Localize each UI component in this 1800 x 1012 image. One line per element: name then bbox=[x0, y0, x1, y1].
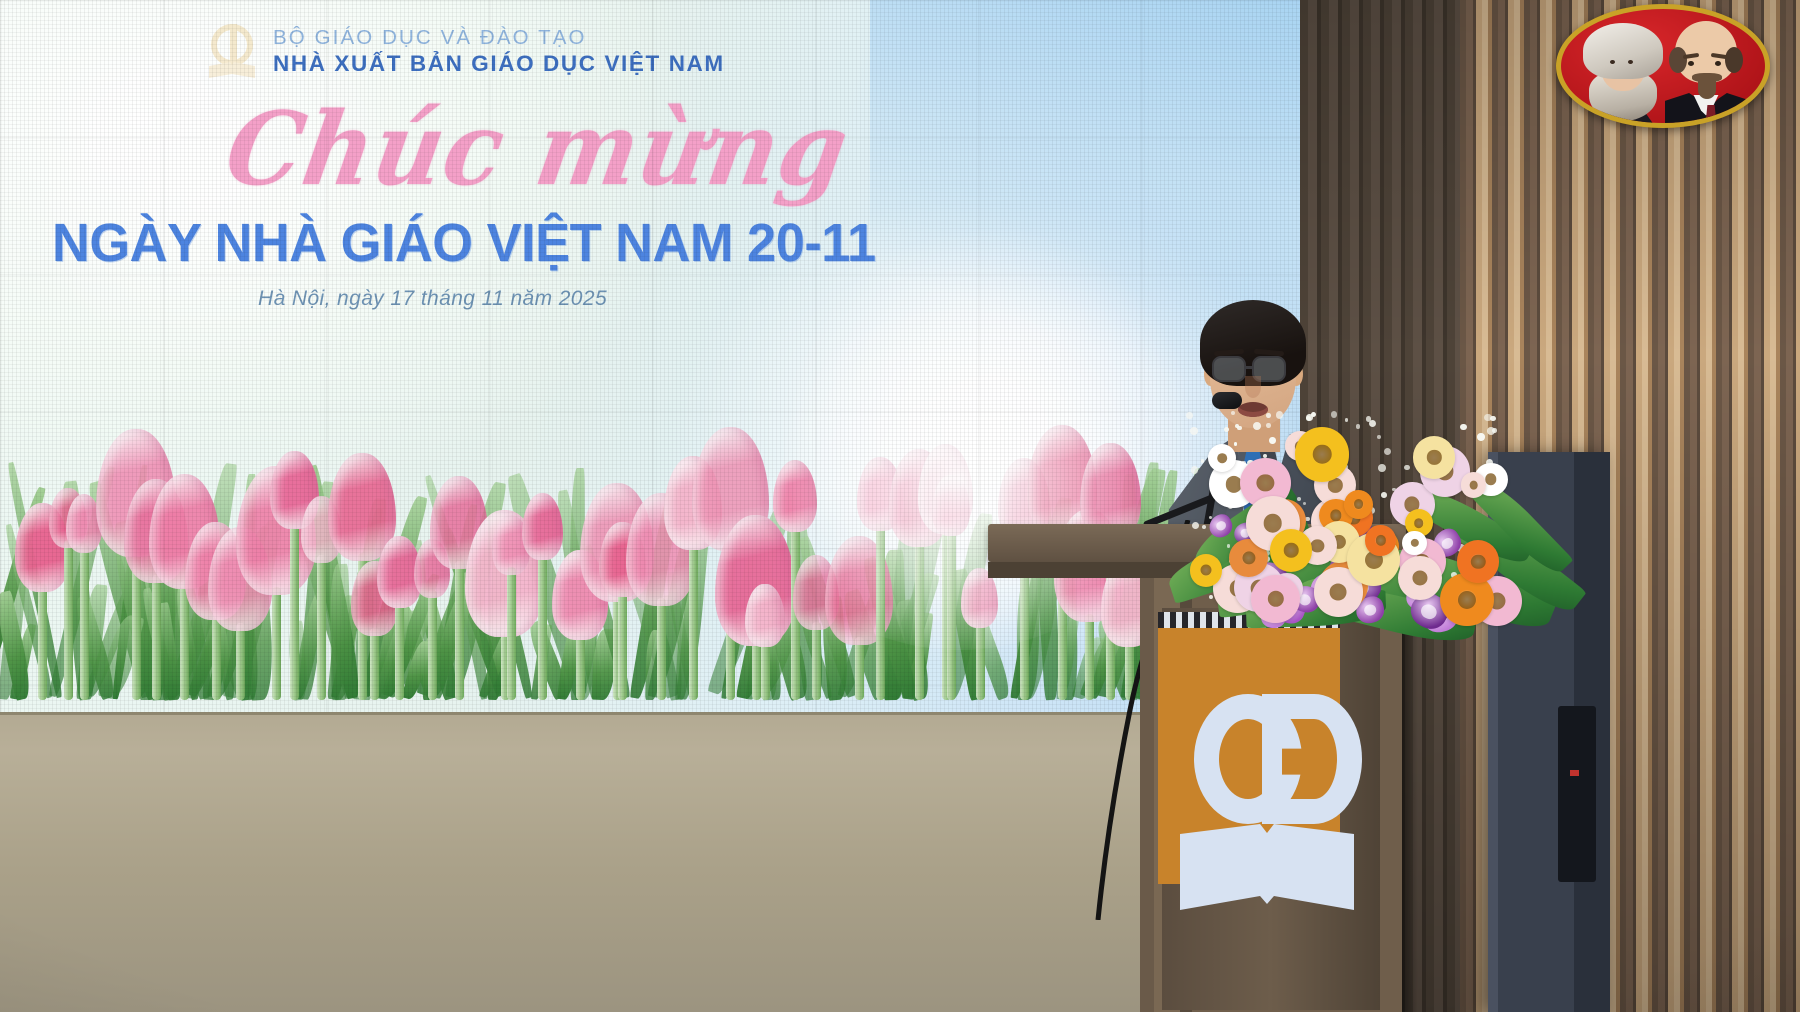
bouquet-flower bbox=[1413, 436, 1455, 478]
tulip-stem bbox=[657, 598, 666, 700]
tulip-stem bbox=[64, 540, 73, 700]
tulip-stem bbox=[428, 590, 437, 700]
bouquet-gypsophila bbox=[1305, 517, 1309, 521]
bouquet-flower bbox=[1365, 525, 1395, 555]
lenin-portrait-icon bbox=[1665, 21, 1751, 123]
bouquet-gypsophila bbox=[1224, 427, 1229, 432]
eyeglasses-lens-left bbox=[1212, 356, 1246, 382]
bouquet-gypsophila bbox=[1234, 442, 1237, 445]
bouquet-flower bbox=[1208, 444, 1236, 472]
bouquet-gypsophila bbox=[1356, 424, 1360, 428]
bouquet-gypsophila bbox=[1191, 466, 1198, 473]
tulip-stem bbox=[152, 575, 161, 700]
bouquet-gypsophila bbox=[1266, 413, 1271, 418]
speaker-power-led-icon bbox=[1570, 770, 1579, 776]
bouquet-flower bbox=[1251, 575, 1299, 623]
bouquet-flower bbox=[1295, 427, 1350, 482]
bouquet-gypsophila bbox=[1303, 502, 1306, 505]
podium-side-shadow bbox=[1402, 578, 1418, 1012]
bouquet-gypsophila bbox=[1202, 525, 1206, 529]
tulip-stem bbox=[212, 612, 221, 700]
bouquet-gypsophila bbox=[1369, 420, 1376, 427]
bouquet-flower bbox=[1457, 540, 1500, 583]
bouquet-gypsophila bbox=[1345, 418, 1348, 421]
marx-portrait-icon bbox=[1581, 23, 1665, 123]
tulip-stem bbox=[538, 552, 547, 700]
bouquet-gypsophila bbox=[1231, 411, 1235, 415]
bouquet-gypsophila bbox=[1209, 595, 1213, 599]
bouquet-gypsophila bbox=[1253, 422, 1261, 430]
date-line: Hà Nội, ngày 17 tháng 11 năm 2025 bbox=[258, 287, 607, 311]
tulip-stem bbox=[689, 542, 698, 700]
tulip-stem bbox=[80, 545, 89, 700]
bouquet-gypsophila bbox=[1269, 437, 1275, 443]
bouquet-gypsophila bbox=[1331, 411, 1337, 417]
bouquet-gypsophila bbox=[1190, 427, 1198, 435]
tulip-stem bbox=[855, 637, 864, 700]
bouquet-flower bbox=[1402, 531, 1427, 556]
gd-logo-book-icon bbox=[1180, 824, 1354, 910]
eyeglasses-bridge bbox=[1246, 366, 1254, 369]
bouquet-flower bbox=[1270, 529, 1313, 572]
tulip-stem bbox=[752, 638, 761, 700]
bouquet-gypsophila bbox=[1201, 459, 1205, 463]
tulip-bloom bbox=[522, 493, 563, 560]
tulip-stem bbox=[38, 584, 47, 700]
tulip-stem bbox=[370, 628, 379, 700]
bouquet-gypsophila bbox=[1276, 411, 1283, 418]
tulip-stem bbox=[812, 622, 821, 700]
tulip-stem bbox=[576, 632, 585, 700]
tulip-stem bbox=[236, 623, 245, 700]
bouquet-gypsophila bbox=[1487, 427, 1495, 435]
tulip-stem bbox=[290, 521, 299, 700]
bouquet-flower bbox=[1398, 556, 1442, 600]
bouquet-gypsophila bbox=[1477, 433, 1484, 440]
tulip-stem bbox=[317, 555, 326, 700]
tulip-stem bbox=[395, 600, 404, 700]
tulip-stem bbox=[455, 561, 464, 700]
ministry-line: BỘ GIÁO DỤC VÀ ĐÀO TẠO bbox=[273, 26, 725, 50]
podium-logo-plaque bbox=[1158, 628, 1340, 884]
bouquet-flower bbox=[1461, 472, 1487, 498]
bouquet-gypsophila bbox=[1266, 423, 1271, 428]
bouquet-gypsophila bbox=[1460, 424, 1466, 430]
bouquet-gypsophila bbox=[1377, 435, 1381, 439]
tulip-stem bbox=[761, 639, 770, 700]
tulip-stem bbox=[507, 567, 516, 700]
tulip-bloom bbox=[745, 584, 784, 648]
bouquet-gypsophila bbox=[1192, 522, 1199, 529]
bouquet-flower bbox=[1344, 490, 1373, 519]
bouquet-gypsophila bbox=[1378, 464, 1386, 472]
script-greeting: Chúc mừng bbox=[219, 91, 856, 209]
bouquet-gypsophila bbox=[1186, 412, 1192, 418]
gd-logo-icon bbox=[205, 22, 259, 80]
podium bbox=[1140, 586, 1402, 1012]
marx-lenin-emblem bbox=[1556, 4, 1770, 128]
bouquet-gypsophila bbox=[1311, 412, 1317, 418]
bouquet-gypsophila bbox=[1384, 448, 1391, 455]
gd-logo-bar bbox=[1262, 694, 1282, 824]
speaker-grill bbox=[1558, 706, 1596, 882]
bouquet-gypsophila bbox=[1297, 497, 1301, 501]
screen-publisher-header: BỘ GIÁO DỤC VÀ ĐÀO TẠO NHÀ XUẤT BẢN GIÁO… bbox=[205, 22, 725, 80]
scene-root: BỘ GIÁO DỤC VÀ ĐÀO TẠO NHÀ XUẤT BẢN GIÁO… bbox=[0, 0, 1800, 1012]
bouquet-flower bbox=[1190, 554, 1222, 586]
bouquet-gypsophila bbox=[1381, 492, 1387, 498]
tulip-stem bbox=[272, 587, 281, 700]
publisher-line: NHÀ XUẤT BẢN GIÁO DỤC VIỆT NAM bbox=[273, 51, 725, 77]
bouquet-gypsophila bbox=[1237, 426, 1241, 430]
bouquet-gypsophila bbox=[1227, 544, 1230, 547]
main-title: NGÀY NHÀ GIÁO VIỆT NAM 20-11 bbox=[52, 212, 876, 274]
tulip-stem bbox=[618, 589, 627, 700]
bouquet-gypsophila bbox=[1404, 465, 1409, 470]
flower-bouquet bbox=[1176, 392, 1516, 642]
bouquet-gypsophila bbox=[1484, 414, 1492, 422]
